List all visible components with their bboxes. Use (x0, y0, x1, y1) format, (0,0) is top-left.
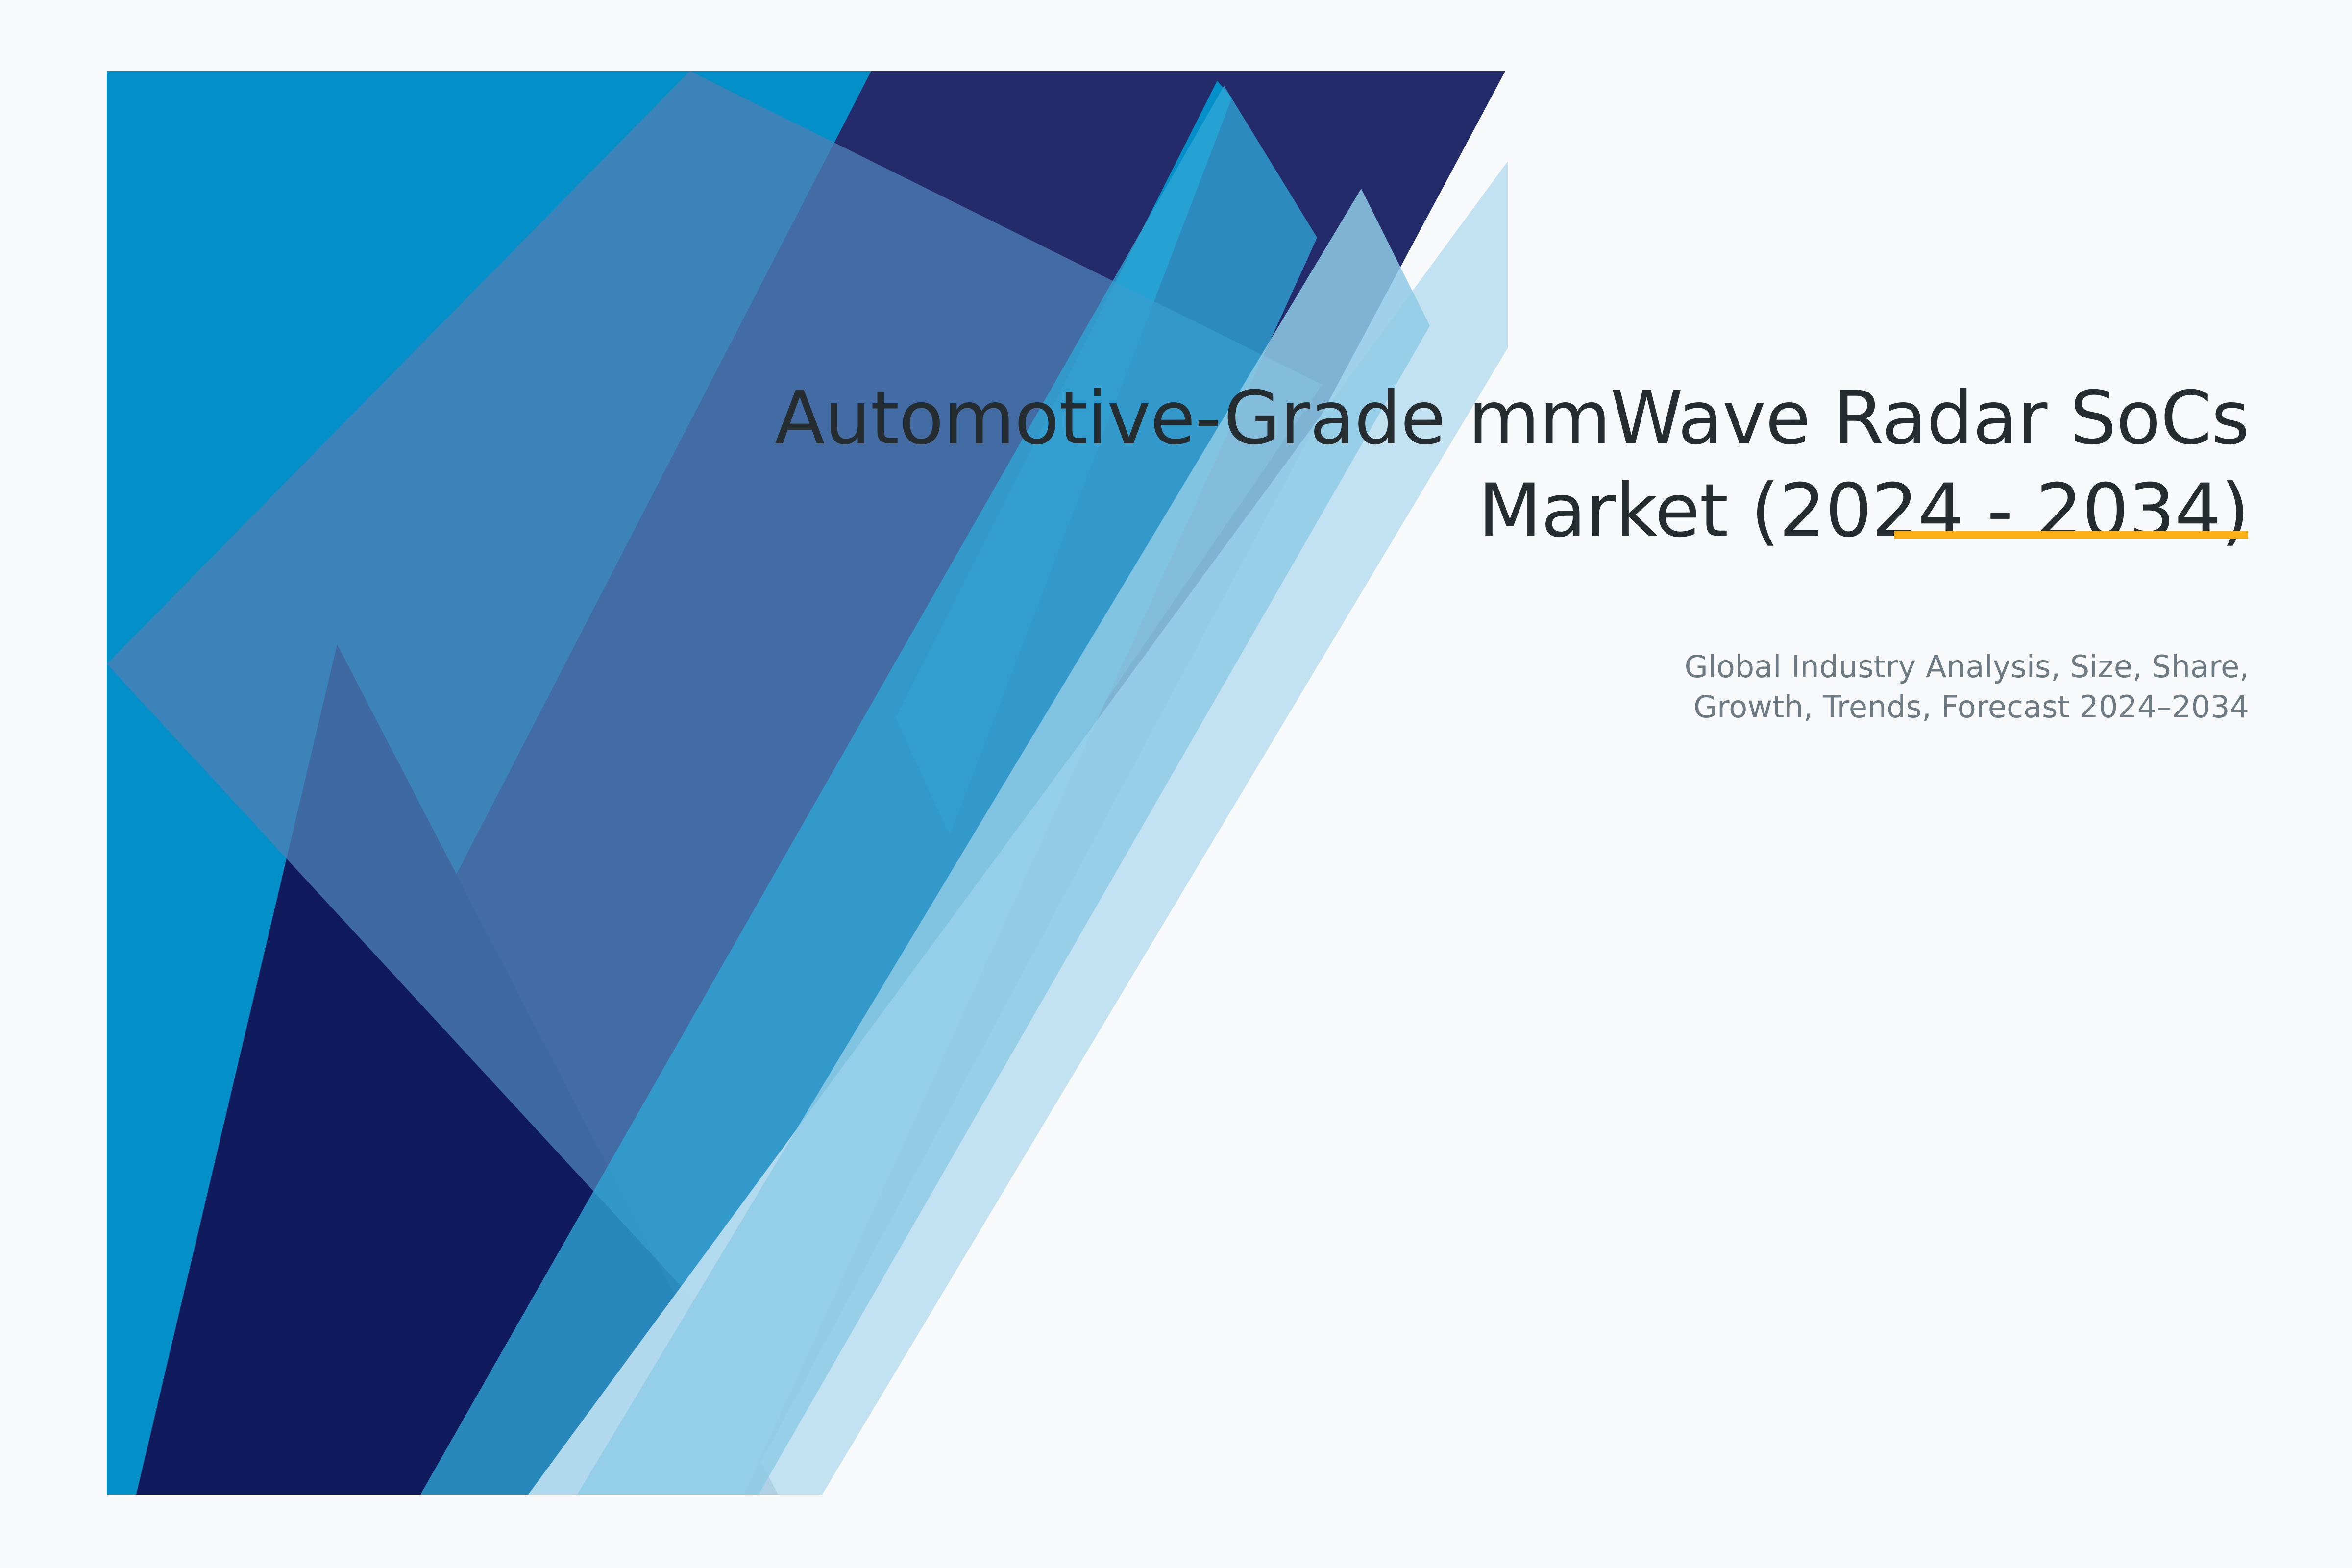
page-title-line-1: Automotive-Grade mmWave Radar SoCs (686, 372, 2249, 465)
page-title: Automotive-Grade mmWave Radar SoCs Marke… (686, 372, 2249, 558)
title-accent-underline (1894, 531, 2248, 539)
page-subtitle: Global Industry Analysis, Size, Share, G… (686, 647, 2249, 727)
page-subtitle-line-1: Global Industry Analysis, Size, Share, (686, 647, 2249, 687)
page-subtitle-line-2: Growth, Trends, Forecast 2024–2034 (686, 687, 2249, 727)
page-title-line-2: Market (2024 - 2034) (686, 465, 2249, 558)
report-cover-page: Automotive-Grade mmWave Radar SoCs Marke… (0, 0, 2352, 1568)
title-block: Automotive-Grade mmWave Radar SoCs Marke… (686, 372, 2249, 558)
abstract-shapes-svg (107, 71, 1508, 1494)
cover-artwork (107, 71, 1508, 1494)
